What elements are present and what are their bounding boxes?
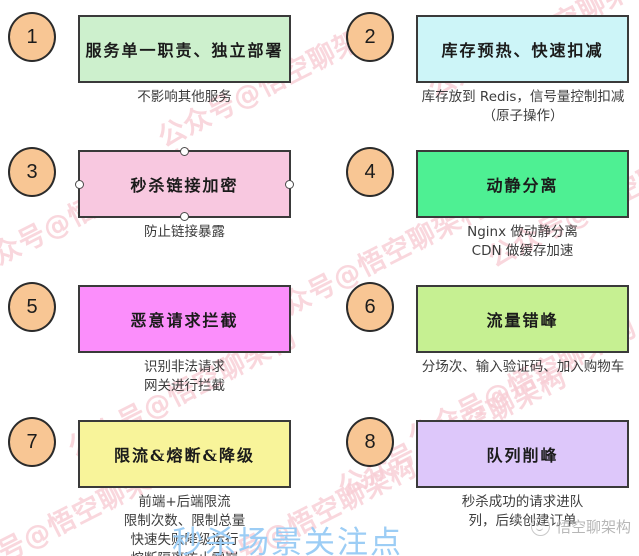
item-box-wrapper: 动静分离 — [416, 150, 629, 218]
item-box-label: 库存预热、快速扣减 — [441, 37, 603, 61]
smiley-face-icon — [531, 517, 550, 536]
item-box-wrapper: 队列削峰 — [416, 420, 629, 488]
item-caption: 识别非法请求 网关进行拦截 — [78, 358, 291, 396]
page-title: 秒杀场景关注点 — [172, 517, 403, 556]
item-box-wrapper: 库存预热、快速扣减 — [416, 15, 629, 83]
item-box-wrapper: 限流&熔断&降级 — [78, 420, 291, 488]
brand-logo: 悟空聊架构 — [531, 516, 631, 537]
item-caption: 库存放到 Redis，信号量控制扣减 （原子操作） — [402, 88, 639, 126]
item-number-badge[interactable]: 2 — [346, 12, 394, 62]
item-number-badge[interactable]: 3 — [8, 147, 56, 197]
item-number-badge[interactable]: 4 — [346, 147, 394, 197]
item-box-wrapper: 秒杀链接加密 — [78, 150, 291, 218]
brand-name: 悟空聊架构 — [556, 516, 631, 537]
item-box[interactable]: 限流&熔断&降级 — [78, 420, 291, 488]
item-box-label: 限流&熔断&降级 — [114, 442, 255, 466]
item-caption: Nginx 做动静分离 CDN 做缓存加速 — [416, 223, 629, 261]
item-caption: 分场次、输入验证码、加入购物车 — [402, 358, 639, 377]
item-box[interactable]: 服务单一职责、独立部署 — [78, 15, 291, 83]
item-caption: 不影响其他服务 — [78, 88, 291, 107]
connection-handle-left[interactable] — [75, 180, 84, 189]
item-box-label: 动静分离 — [486, 172, 558, 196]
item-number-badge[interactable]: 7 — [8, 417, 56, 467]
item-number-badge[interactable]: 6 — [346, 282, 394, 332]
diagram-canvas: 公众号@悟空聊架构公众号@悟空聊架构公众号@悟空聊架构公众号@悟空聊架构公众号@… — [0, 0, 639, 556]
item-box-label: 秒杀链接加密 — [130, 172, 238, 196]
item-box-label: 恶意请求拦截 — [130, 307, 238, 331]
item-box-label: 服务单一职责、独立部署 — [85, 37, 283, 61]
connection-handle-top[interactable] — [180, 147, 189, 156]
connection-handle-bottom[interactable] — [180, 212, 189, 221]
connection-handle-right[interactable] — [285, 180, 294, 189]
item-box[interactable]: 库存预热、快速扣减 — [416, 15, 629, 83]
item-box-wrapper: 恶意请求拦截 — [78, 285, 291, 353]
item-number-badge[interactable]: 5 — [8, 282, 56, 332]
item-box[interactable]: 队列削峰 — [416, 420, 629, 488]
item-box-wrapper: 服务单一职责、独立部署 — [78, 15, 291, 83]
item-box[interactable]: 动静分离 — [416, 150, 629, 218]
item-box[interactable]: 恶意请求拦截 — [78, 285, 291, 353]
item-box-label: 流量错峰 — [486, 307, 558, 331]
item-number-badge[interactable]: 8 — [346, 417, 394, 467]
item-number-badge[interactable]: 1 — [8, 12, 56, 62]
item-box-wrapper: 流量错峰 — [416, 285, 629, 353]
item-box[interactable]: 秒杀链接加密 — [78, 150, 291, 218]
item-box-label: 队列削峰 — [486, 442, 558, 466]
items-grid: 1服务单一职责、独立部署不影响其他服务2库存预热、快速扣减库存放到 Redis，… — [0, 0, 639, 556]
item-box[interactable]: 流量错峰 — [416, 285, 629, 353]
item-caption: 防止链接暴露 — [78, 223, 291, 242]
